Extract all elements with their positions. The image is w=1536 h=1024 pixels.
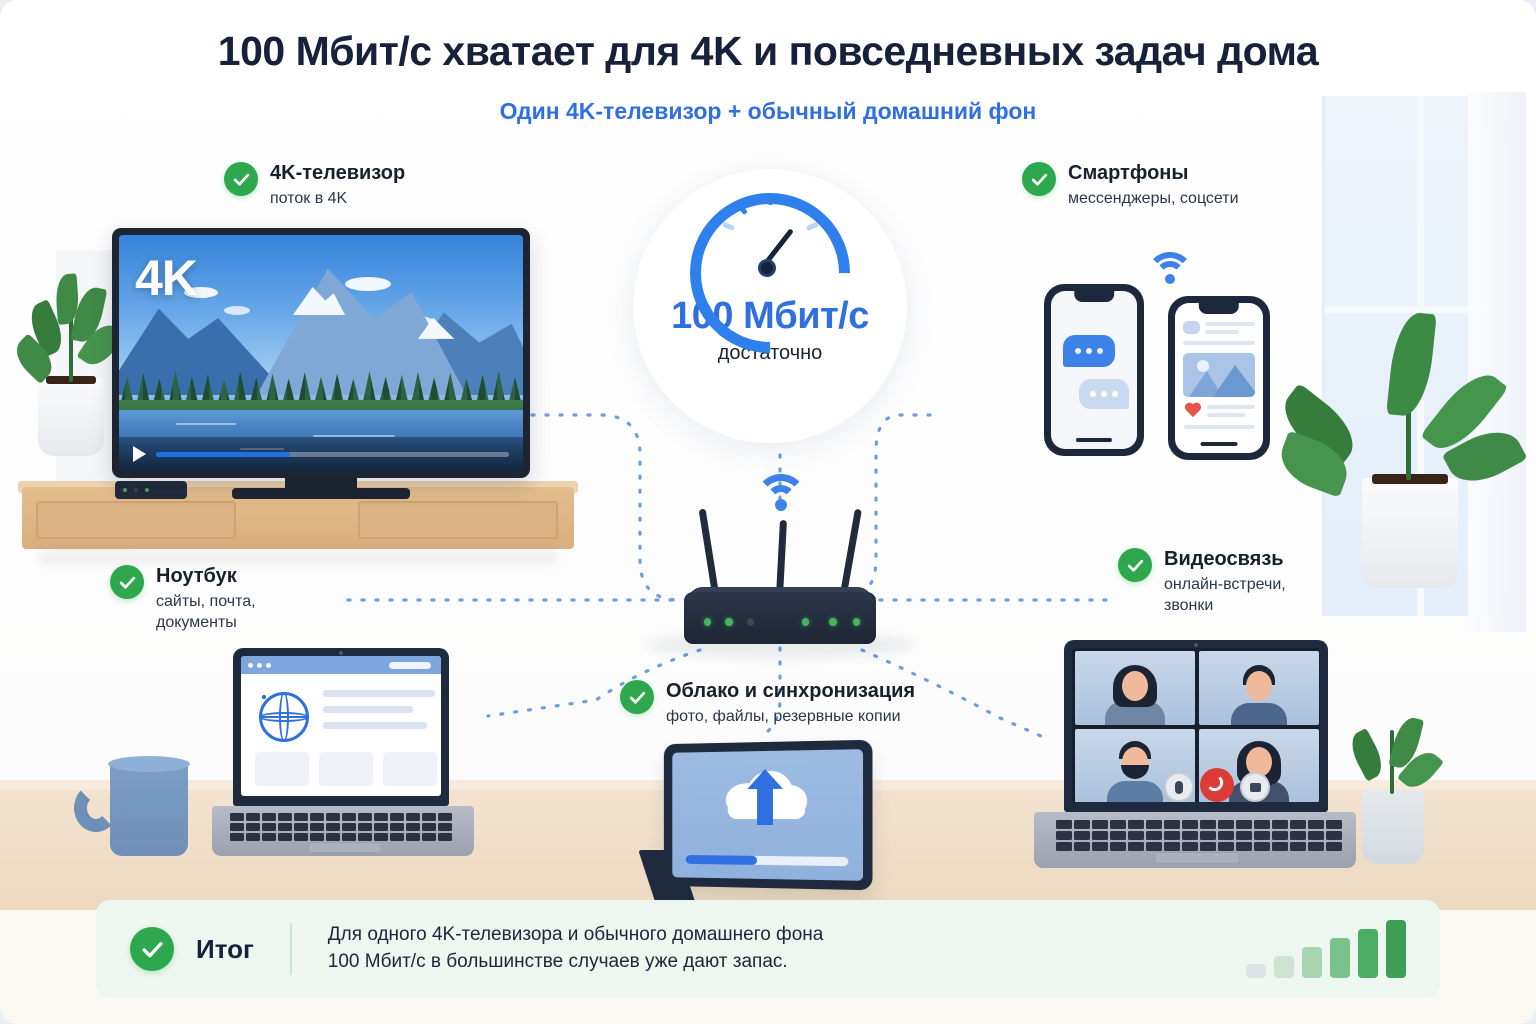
feed-image — [1183, 353, 1255, 397]
signal-strength-bars — [1246, 920, 1406, 978]
participant-beard — [1121, 765, 1149, 779]
tablet-progress-fill — [686, 855, 757, 865]
browser-url-bar[interactable] — [389, 662, 431, 669]
feed-line — [1184, 425, 1255, 429]
feed-line — [1183, 341, 1255, 345]
laptop-videocall-lid — [1064, 640, 1328, 812]
plant-large-pot — [1362, 478, 1458, 588]
router-led — [829, 618, 836, 626]
check-icon — [620, 680, 654, 714]
label-cloud: Облако и синхронизация фото, файлы, резе… — [620, 680, 915, 727]
laptop-browser-base — [212, 806, 474, 856]
signal-bar — [1302, 947, 1322, 978]
summary-text: Для одного 4K-телевизора и обычного дома… — [328, 922, 824, 976]
feed-line — [1205, 330, 1239, 334]
participant-face — [1246, 671, 1272, 701]
browser-toolbar — [241, 656, 441, 674]
plant-desk-pot — [1362, 790, 1424, 864]
feed-line — [1207, 413, 1245, 417]
tablet-progress-track — [686, 855, 849, 866]
router-led-row — [700, 618, 860, 626]
globe-icon — [259, 692, 309, 742]
set-top-box — [115, 481, 187, 499]
check-icon — [130, 927, 174, 971]
label-laptop: Ноутбук сайты, почта, документы — [110, 565, 256, 633]
smartphone-messenger — [1044, 284, 1144, 456]
router-led — [747, 618, 754, 626]
placeholder-line — [323, 706, 413, 713]
upload-arrow-icon — [757, 785, 773, 825]
laptop-keyboard[interactable] — [230, 813, 452, 841]
wifi-icon — [755, 474, 807, 510]
feed-line — [1205, 322, 1255, 326]
feed-line — [1207, 405, 1255, 409]
browser-dot — [248, 663, 253, 668]
laptop-trackpad[interactable] — [1154, 852, 1240, 864]
label-phones-desc: мессенджеры, соцсети — [1068, 188, 1239, 209]
check-icon — [1118, 548, 1152, 582]
set-top-led — [123, 488, 127, 492]
end-call-icon[interactable] — [1200, 768, 1234, 802]
camera-icon[interactable] — [1240, 772, 1270, 802]
tablet-cloud — [664, 740, 873, 891]
summary-line-1: Для одного 4K-телевизора и обычного дома… — [328, 922, 824, 949]
signal-bar — [1386, 920, 1406, 978]
laptop-videocall-base — [1034, 812, 1356, 868]
signal-bar — [1274, 956, 1294, 978]
signal-bar — [1330, 938, 1350, 978]
television: 4K — [112, 228, 530, 478]
label-video-desc: онлайн-встречи, звонки — [1164, 574, 1286, 617]
router-led — [704, 618, 711, 626]
set-top-led — [134, 488, 138, 492]
label-tv-title: 4K-телевизор — [270, 162, 405, 186]
laptop-browser-lid — [233, 648, 449, 806]
signal-bar — [1246, 964, 1266, 978]
console-drawer-left — [36, 501, 236, 539]
check-icon — [110, 565, 144, 599]
tv-lake-glint — [176, 423, 236, 425]
participant-face — [1122, 671, 1148, 701]
video-tile[interactable] — [1075, 651, 1195, 725]
label-video: Видеосвязь онлайн-встречи, звонки — [1118, 548, 1286, 616]
check-icon — [224, 162, 258, 196]
speed-gauge-card: 100 Мбит/с достаточно — [632, 168, 908, 444]
window-curtain — [1468, 92, 1526, 632]
signal-bar — [1358, 929, 1378, 978]
laptop-keyboard[interactable] — [1056, 820, 1342, 851]
tv-screen: 4K — [119, 235, 523, 471]
coffee-mug — [110, 762, 188, 856]
tv-player-bar — [119, 437, 523, 471]
tablet-screen — [672, 749, 863, 881]
check-icon — [1022, 162, 1056, 196]
router-led — [853, 618, 860, 626]
chat-bubble-outgoing — [1079, 379, 1129, 409]
tv-4k-badge: 4K — [135, 249, 197, 307]
console-drawer-right — [358, 501, 558, 539]
label-tv-desc: поток в 4K — [270, 188, 405, 209]
gauge-hub — [758, 259, 776, 277]
tv-cloud — [224, 306, 250, 315]
browser-dot — [257, 663, 262, 668]
smartphone-social-screen — [1175, 303, 1263, 453]
console-shadow — [40, 549, 556, 565]
router-led — [802, 618, 809, 626]
label-laptop-title: Ноутбук — [156, 565, 256, 589]
placeholder-card — [383, 752, 437, 786]
router-led — [725, 618, 732, 626]
tv-progress-track[interactable] — [156, 452, 509, 457]
label-tv: 4K-телевизор поток в 4K — [224, 162, 405, 209]
summary-divider — [290, 923, 292, 975]
participant-body — [1107, 781, 1163, 802]
video-tile[interactable] — [1199, 651, 1319, 725]
phone-home-indicator — [1201, 442, 1238, 446]
mug-rim — [108, 756, 190, 772]
laptop-trackpad[interactable] — [308, 842, 382, 853]
summary-line-2: 100 Мбит/с в большинстве случаев уже даю… — [328, 949, 824, 976]
infographic-page: 100 Мбит/с хватает для 4K и повседневных… — [0, 0, 1536, 1024]
summary-bar: Итог Для одного 4K-телевизора и обычного… — [96, 900, 1440, 998]
play-icon[interactable] — [133, 446, 146, 462]
gauge-tick — [768, 193, 773, 205]
page-title: 100 Мбит/с хватает для 4K и повседневных… — [0, 28, 1536, 75]
webcam-icon — [339, 651, 343, 655]
label-video-title: Видеосвязь — [1164, 548, 1286, 572]
phone-notch — [1199, 303, 1239, 314]
plant-small-pot — [38, 378, 104, 456]
participant-body — [1231, 703, 1287, 725]
label-cloud-title: Облако и синхронизация — [666, 680, 915, 704]
set-top-led — [145, 488, 149, 492]
wifi-icon — [1146, 252, 1194, 286]
tv-progress-fill — [156, 452, 290, 457]
browser-dot — [266, 663, 271, 668]
summary-label: Итог — [196, 934, 254, 965]
placeholder-line — [323, 690, 435, 697]
heart-icon[interactable] — [1184, 403, 1202, 419]
webcam-icon — [1194, 643, 1198, 647]
placeholder-card — [319, 752, 373, 786]
microphone-icon[interactable] — [1164, 772, 1194, 802]
phone-notch — [1074, 291, 1114, 302]
laptop-videocall-screen — [1072, 648, 1320, 802]
feed-avatar — [1183, 321, 1200, 334]
laptop-browser-screen — [241, 656, 441, 796]
smartphone-messenger-screen — [1051, 291, 1137, 449]
label-cloud-desc: фото, файлы, резервные копии — [666, 706, 915, 727]
placeholder-card — [255, 752, 309, 786]
tv-neck — [285, 478, 357, 492]
smartphone-social — [1168, 296, 1270, 460]
placeholder-line — [323, 722, 427, 729]
chat-bubble-incoming — [1063, 335, 1115, 367]
label-phones-title: Смартфоны — [1068, 162, 1239, 186]
speedometer-icon — [690, 193, 850, 279]
label-laptop-desc: сайты, почта, документы — [156, 591, 256, 634]
phone-home-indicator — [1076, 438, 1112, 442]
page-subtitle: Один 4K-телевизор + обычный домашний фон — [0, 98, 1536, 125]
label-phones: Смартфоны мессенджеры, соцсети — [1022, 162, 1239, 209]
